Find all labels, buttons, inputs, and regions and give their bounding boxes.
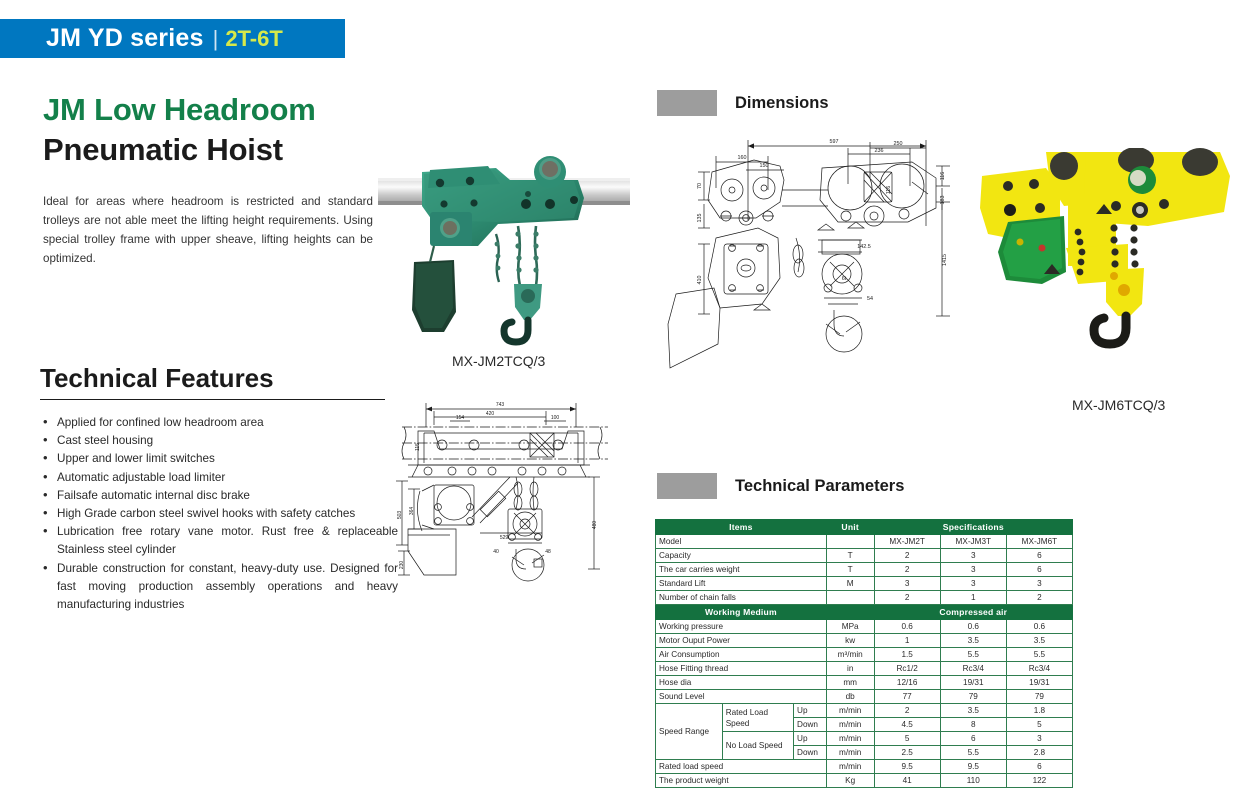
cell-unit: m³/min xyxy=(826,648,874,662)
cell-value: 4.5 xyxy=(874,718,940,732)
caption-right-model: MX-JM6TCQ/3 xyxy=(1072,397,1165,413)
technical-parameters-label: Technical Parameters xyxy=(735,477,904,496)
table-row: The car carries weightT236 xyxy=(656,563,1073,577)
cell-value: 6 xyxy=(1006,760,1072,774)
table-row: ModelMX-JM2TMX-JM3TMX-JM6T xyxy=(656,535,1073,549)
table-body-top: ModelMX-JM2TMX-JM3TMX-JM6TCapacityT236Th… xyxy=(656,535,1073,605)
svg-text:54: 54 xyxy=(867,296,873,302)
cell-value: 9.5 xyxy=(874,760,940,774)
feature-item: Durable construction for constant, heavy… xyxy=(42,560,398,615)
grey-chip-icon xyxy=(657,90,717,116)
svg-text:142.5: 142.5 xyxy=(857,244,871,250)
cell-value: 2 xyxy=(874,549,940,563)
cell-unit: Kg xyxy=(826,774,874,788)
header-items: Items xyxy=(656,520,827,535)
svg-text:1415: 1415 xyxy=(942,254,948,266)
cell-unit: m/min xyxy=(826,732,874,746)
table-body-bottom: Rated load speedm/min9.59.56The product … xyxy=(656,760,1073,788)
cell-unit: m/min xyxy=(826,746,874,760)
svg-text:420: 420 xyxy=(486,411,495,417)
cell-item: The product weight xyxy=(656,774,827,788)
cell-value: 0.6 xyxy=(1006,620,1072,634)
cell-value: 2 xyxy=(874,563,940,577)
cell-unit: T xyxy=(826,549,874,563)
cell-unit xyxy=(826,591,874,605)
cell-value: 1 xyxy=(940,591,1006,605)
feature-item: Applied for confined low headroom area xyxy=(42,414,398,432)
cell-value: 0.6 xyxy=(940,620,1006,634)
cell-value: 3.5 xyxy=(940,634,1006,648)
cell-value: Rc1/2 xyxy=(874,662,940,676)
cell-value: 77 xyxy=(874,690,940,704)
series-ribbon: JM YD series | 2T-6T xyxy=(0,19,345,58)
svg-text:48: 48 xyxy=(545,549,551,555)
svg-text:480: 480 xyxy=(592,521,598,530)
cell-value: 6 xyxy=(940,732,1006,746)
product-title-line1: JM Low Headroom xyxy=(43,92,316,128)
feature-item: High Grade carbon steel swivel hooks wit… xyxy=(42,505,398,523)
table-row: Hose diamm12/1619/3119/31 xyxy=(656,676,1073,690)
feature-item: Lubrication free rotary vane motor. Rust… xyxy=(42,523,398,559)
cell-value: 3.5 xyxy=(940,704,1006,718)
dimensions-section-heading: Dimensions xyxy=(657,90,829,116)
table-body-band: Working Medium Compressed air xyxy=(656,605,1073,620)
cell-value: 6 xyxy=(1006,549,1072,563)
cell-value: 5.5 xyxy=(940,746,1006,760)
cell-unit: m/min xyxy=(826,718,874,732)
cell-unit: db xyxy=(826,690,874,704)
svg-text:116: 116 xyxy=(940,172,946,181)
cell-value: 19/31 xyxy=(1006,676,1072,690)
table-row: Hose Fitting threadinRc1/2Rc3/4Rc3/4 xyxy=(656,662,1073,676)
cell-unit xyxy=(826,535,874,549)
cell-value: 2.8 xyxy=(1006,746,1072,760)
svg-text:743: 743 xyxy=(496,402,505,408)
cell-value: 3 xyxy=(1006,732,1072,746)
table-head: Items Unit Specifications xyxy=(656,520,1073,535)
cell-unit: m/min xyxy=(826,704,874,718)
cell-value: 5.5 xyxy=(1006,648,1072,662)
cell-direction: Down xyxy=(794,746,827,760)
cell-item: Model xyxy=(656,535,827,549)
svg-text:503: 503 xyxy=(397,511,403,520)
cell-value: 3 xyxy=(940,549,1006,563)
svg-text:183: 183 xyxy=(940,196,946,205)
cell-item: Air Consumption xyxy=(656,648,827,662)
cell-value: 12/16 xyxy=(874,676,940,690)
cell-value: MX-JM6T xyxy=(1006,535,1072,549)
cell-item: Sound Level xyxy=(656,690,827,704)
cell-unit: T xyxy=(826,563,874,577)
cell-value: 19/31 xyxy=(940,676,1006,690)
product-photo-yellow-hoist xyxy=(968,148,1240,380)
svg-text:230: 230 xyxy=(399,561,405,570)
cell-direction: Down xyxy=(794,718,827,732)
table-row: Speed RangeRated Load SpeedUpm/min23.51.… xyxy=(656,704,1073,718)
cell-value: 2 xyxy=(874,704,940,718)
svg-text:6t: 6t xyxy=(842,276,847,282)
cell-value: 3 xyxy=(940,577,1006,591)
cell-item: Number of chain falls xyxy=(656,591,827,605)
ribbon-separator: | xyxy=(213,26,219,52)
table-header-row: Items Unit Specifications xyxy=(656,520,1073,535)
technical-parameters-table-wrapper: Items Unit Specifications ModelMX-JM2TMX… xyxy=(655,519,1073,788)
cell-speed-subgroup: Rated Load Speed xyxy=(722,704,793,732)
cell-value: 1 xyxy=(874,634,940,648)
cell-value: 3 xyxy=(1006,577,1072,591)
svg-text:116: 116 xyxy=(886,186,892,195)
working-medium-band-row: Working Medium Compressed air xyxy=(656,605,1073,620)
cell-value: Rc3/4 xyxy=(1006,662,1072,676)
cell-item: Hose Fitting thread xyxy=(656,662,827,676)
cell-value: 6 xyxy=(1006,563,1072,577)
product-photo-green-hoist xyxy=(378,150,630,350)
working-medium-value: Compressed air xyxy=(874,605,1072,620)
cell-value: MX-JM3T xyxy=(940,535,1006,549)
cell-unit: M xyxy=(826,577,874,591)
cell-value: 79 xyxy=(1006,690,1072,704)
table-row: Motor Ouput Powerkw13.53.5 xyxy=(656,634,1073,648)
technical-parameters-section-heading: Technical Parameters xyxy=(657,473,904,499)
cell-direction: Up xyxy=(794,704,827,718)
working-medium-label: Working Medium xyxy=(656,605,827,620)
cell-item: Rated load speed xyxy=(656,760,827,774)
svg-text:154: 154 xyxy=(456,415,465,421)
features-list: Applied for confined low headroom areaCa… xyxy=(42,414,398,614)
cell-unit: m/min xyxy=(826,760,874,774)
dimension-drawing-bottom: 743420 154100 503 364 230 480 115 529 48… xyxy=(394,393,628,587)
header-specifications: Specifications xyxy=(874,520,1072,535)
cell-item: Motor Ouput Power xyxy=(656,634,827,648)
cell-value: 5 xyxy=(1006,718,1072,732)
cell-value: MX-JM2T xyxy=(874,535,940,549)
cell-value: 110 xyxy=(940,774,1006,788)
cell-speed-subgroup: No Load Speed xyxy=(722,732,793,760)
svg-text:250: 250 xyxy=(894,141,903,147)
table-row: Sound Leveldb777979 xyxy=(656,690,1073,704)
cell-item: Capacity xyxy=(656,549,827,563)
svg-text:364: 364 xyxy=(409,507,415,516)
dimensions-label: Dimensions xyxy=(735,94,829,113)
grey-chip-icon xyxy=(657,473,717,499)
cell-value: 2 xyxy=(874,591,940,605)
table-body-speed-range: Speed RangeRated Load SpeedUpm/min23.51.… xyxy=(656,704,1073,760)
cell-value: 5.5 xyxy=(940,648,1006,662)
dimension-drawing-top: 597250236 160150 116 116 183 70 135 410 … xyxy=(658,128,964,374)
cell-value: 41 xyxy=(874,774,940,788)
cell-unit: kw xyxy=(826,634,874,648)
cell-value: 8 xyxy=(940,718,1006,732)
cell-direction: Up xyxy=(794,732,827,746)
caption-left-model: MX-JM2TCQ/3 xyxy=(452,353,545,369)
svg-text:100: 100 xyxy=(551,415,560,421)
cell-unit: MPa xyxy=(826,620,874,634)
cell-value: 9.5 xyxy=(940,760,1006,774)
table-row: Air Consumptionm³/min1.55.55.5 xyxy=(656,648,1073,662)
cell-speed-range-group: Speed Range xyxy=(656,704,723,760)
cell-value: 1.8 xyxy=(1006,704,1072,718)
features-divider xyxy=(40,399,385,400)
feature-item: Upper and lower limit switches xyxy=(42,450,398,468)
series-title: JM YD series xyxy=(46,24,204,53)
svg-text:597: 597 xyxy=(830,139,839,145)
cell-value: 2 xyxy=(1006,591,1072,605)
cell-unit: in xyxy=(826,662,874,676)
cell-value: 3 xyxy=(874,577,940,591)
datasheet-page: JM YD series | 2T-6T JM Low Headroom Pne… xyxy=(0,0,1246,758)
capacity-range: 2T-6T xyxy=(225,26,282,52)
cell-value: 2.5 xyxy=(874,746,940,760)
intro-paragraph: Ideal for areas where headroom is restri… xyxy=(43,192,373,268)
svg-text:150: 150 xyxy=(760,163,769,169)
table-row: Working pressureMPa0.60.60.6 xyxy=(656,620,1073,634)
table-row: The product weightKg41110122 xyxy=(656,774,1073,788)
header-unit: Unit xyxy=(826,520,874,535)
svg-text:160: 160 xyxy=(738,155,747,161)
cell-value: 5 xyxy=(874,732,940,746)
cell-value: 79 xyxy=(940,690,1006,704)
cell-value: 1.5 xyxy=(874,648,940,662)
cell-item: Standard Lift xyxy=(656,577,827,591)
technical-parameters-table: Items Unit Specifications ModelMX-JM2TMX… xyxy=(655,519,1073,788)
cell-item: Hose dia xyxy=(656,676,827,690)
svg-text:529: 529 xyxy=(500,535,509,541)
svg-text:70: 70 xyxy=(697,183,703,189)
cell-value: 3 xyxy=(940,563,1006,577)
features-heading: Technical Features xyxy=(40,363,274,394)
cell-value: 0.6 xyxy=(874,620,940,634)
svg-text:135: 135 xyxy=(697,214,703,223)
table-row: Standard LiftM333 xyxy=(656,577,1073,591)
feature-item: Automatic adjustable load limiter xyxy=(42,469,398,487)
cell-value: 122 xyxy=(1006,774,1072,788)
svg-text:115: 115 xyxy=(415,443,421,451)
feature-item: Failsafe automatic internal disc brake xyxy=(42,487,398,505)
product-title-line2: Pneumatic Hoist xyxy=(43,132,283,168)
cell-item: Working pressure xyxy=(656,620,827,634)
svg-text:40: 40 xyxy=(493,549,499,555)
table-row: Number of chain falls212 xyxy=(656,591,1073,605)
table-body-medium: Working pressureMPa0.60.60.6Motor Ouput … xyxy=(656,620,1073,704)
cell-value: Rc3/4 xyxy=(940,662,1006,676)
table-row: Rated load speedm/min9.59.56 xyxy=(656,760,1073,774)
svg-text:410: 410 xyxy=(697,276,703,285)
cell-unit: mm xyxy=(826,676,874,690)
cell-item: The car carries weight xyxy=(656,563,827,577)
table-row: CapacityT236 xyxy=(656,549,1073,563)
svg-text:236: 236 xyxy=(875,148,884,154)
working-medium-unit-spacer xyxy=(826,605,874,620)
feature-item: Cast steel housing xyxy=(42,432,398,450)
cell-value: 3.5 xyxy=(1006,634,1072,648)
